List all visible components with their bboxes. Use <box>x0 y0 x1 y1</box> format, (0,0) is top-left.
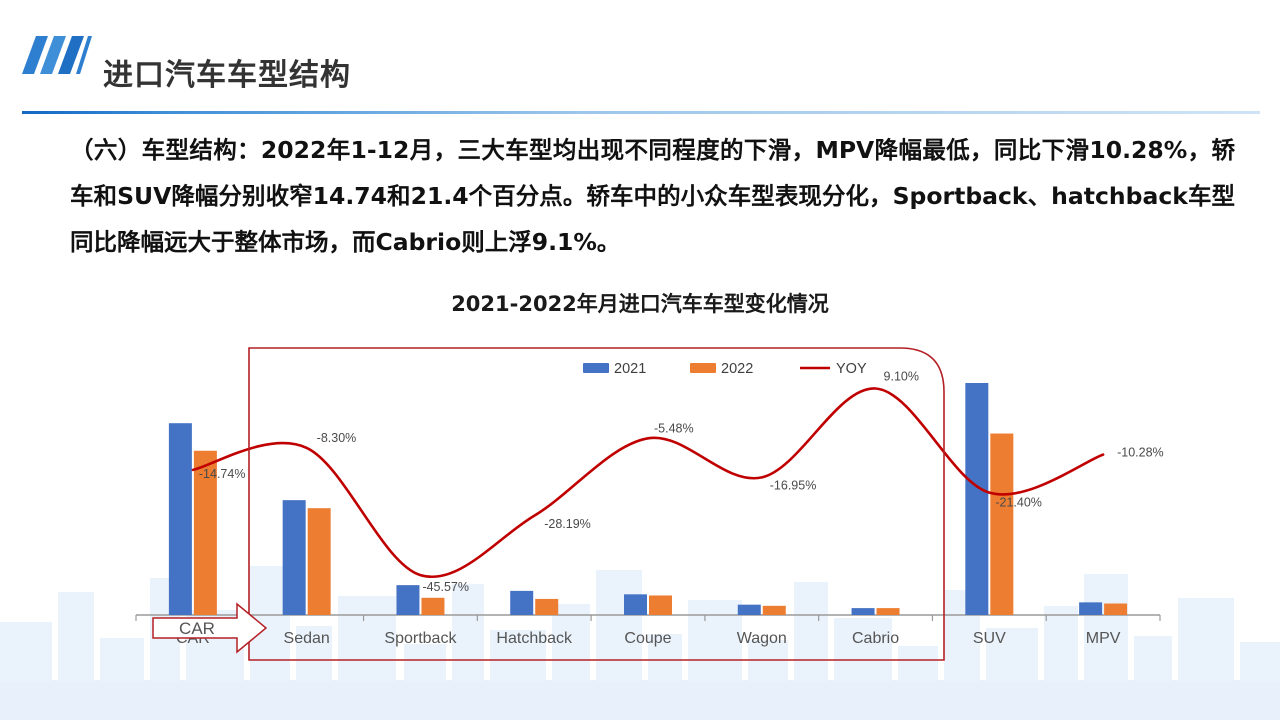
bar-2021-SUV <box>965 383 988 615</box>
yoy-label-Hatchback: -28.19% <box>544 517 591 531</box>
bar-2022-Hatchback <box>535 599 558 615</box>
category-label-Cabrio: Cabrio <box>852 630 899 647</box>
bar-2022-Coupe <box>649 595 672 615</box>
bar-2021-Sportback <box>396 585 419 615</box>
legend-swatch-2021 <box>583 363 609 373</box>
header-divider <box>22 111 1260 114</box>
category-label-SUV: SUV <box>973 630 1006 647</box>
yoy-label-Sportback: -45.57% <box>422 580 469 594</box>
bar-2021-Hatchback <box>510 591 533 615</box>
category-label-Wagon: Wagon <box>737 630 787 647</box>
page-header: 进口汽车车型结构 <box>0 28 1280 90</box>
bar-2021-Wagon <box>738 605 761 615</box>
yoy-label-Coupe: -5.48% <box>654 421 694 435</box>
bar-2021-CAR <box>169 423 192 615</box>
blue-slashes-icon <box>22 34 92 76</box>
chart-container: 2021-2022年月进口汽车车型变化情况 CARSedanSportbackH… <box>0 270 1280 690</box>
bar-2022-Cabrio <box>877 608 900 615</box>
page-title: 进口汽车车型结构 <box>103 50 351 94</box>
bar-2021-Coupe <box>624 594 647 615</box>
legend-label-2021: 2021 <box>614 361 646 377</box>
yoy-value-labels: -14.74%-8.30%-45.57%-28.19%-5.48%-16.95%… <box>199 369 1164 594</box>
red-annotation-box <box>249 348 944 660</box>
bar-2022-Wagon <box>763 606 786 615</box>
category-label-Hatchback: Hatchback <box>496 630 573 647</box>
bar-2022-MPV <box>1104 604 1127 615</box>
bar-2021-Sedan <box>283 500 306 615</box>
legend-label-yoy: YOY <box>836 361 867 377</box>
car-callout-label: CAR <box>179 619 215 638</box>
yoy-label-MPV: -10.28% <box>1117 446 1164 460</box>
chart-plot-area: CARSedanSportbackHatchbackCoupeWagonCabr… <box>0 270 1280 690</box>
category-label-Coupe: Coupe <box>624 630 671 647</box>
x-axis-ticks <box>136 615 1160 621</box>
yoy-label-Cabrio: 9.10% <box>884 369 919 383</box>
bar-2022-Sedan <box>308 508 331 615</box>
yoy-label-CAR: -14.74% <box>199 467 246 481</box>
x-axis-category-labels: CARSedanSportbackHatchbackCoupeWagonCabr… <box>176 630 1121 647</box>
yoy-label-SUV: -21.40% <box>995 496 1042 510</box>
bar-2022-Sportback <box>421 598 444 615</box>
bar-2021-Cabrio <box>852 608 875 615</box>
body-paragraph: （六）车型结构：2022年1-12月，三大车型均出现不同程度的下滑，MPV降幅最… <box>70 127 1235 265</box>
category-label-Sedan: Sedan <box>284 630 330 647</box>
legend-swatch-2022 <box>690 363 716 373</box>
chart-legend: 2021 2022 YOY <box>583 361 867 377</box>
yoy-label-Wagon: -16.95% <box>770 478 817 492</box>
legend-label-2022: 2022 <box>721 361 753 377</box>
bar-2022-SUV <box>990 434 1013 615</box>
bar-2021-MPV <box>1079 602 1102 615</box>
category-label-MPV: MPV <box>1086 630 1121 647</box>
category-label-Sportback: Sportback <box>384 630 457 647</box>
yoy-label-Sedan: -8.30% <box>317 431 357 445</box>
